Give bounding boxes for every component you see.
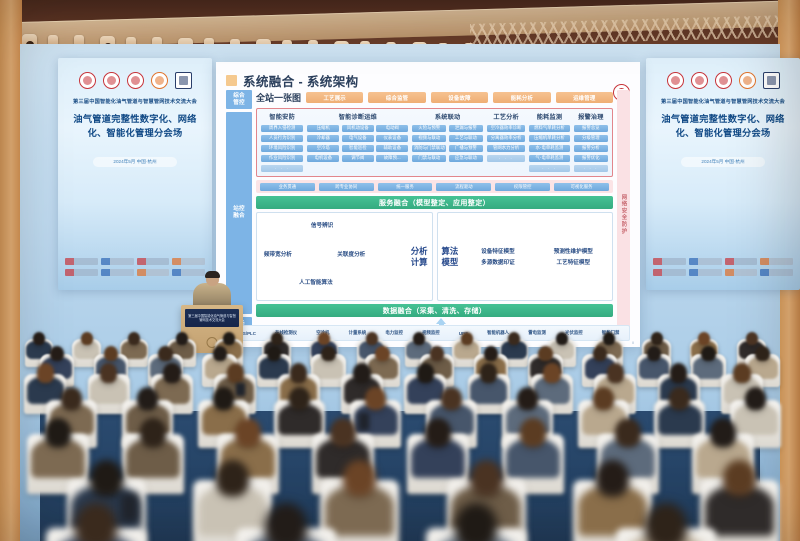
scenario-tab-row: 全站一张图 工艺展示综合监管设备故障能耗分析运维管理 <box>256 90 613 105</box>
attendee-head <box>216 460 249 496</box>
app-more-indicator[interactable]: · · · <box>487 155 525 163</box>
banner-logo-row <box>58 72 212 89</box>
attendee-head <box>615 418 641 447</box>
attendee-head <box>50 346 64 362</box>
sponsor-logo <box>137 269 170 276</box>
banner-date: 2024年5月 中国·杭州 <box>681 157 765 167</box>
attendee-head <box>755 346 769 362</box>
app-column-5: 能耗监测燃料气单耗分析压缩机单耗分析水-电单耗监测气-电单耗监测· · · <box>529 112 569 172</box>
app-item[interactable]: 人员行为识别 <box>261 135 303 143</box>
banner-subtitle: 第三届中国智能化油气管道与智慧管网技术交流大会 <box>66 98 204 106</box>
label-ai-algorithm: 人工智能算法 <box>299 278 333 286</box>
app-more-indicator[interactable]: · · · <box>574 165 608 173</box>
podium-sign: 第三届中国智能化油气管道与智慧管网技术交流大会 <box>185 309 239 327</box>
wall-left <box>0 0 22 541</box>
attendee-head <box>235 418 261 447</box>
attendee-head <box>607 363 625 382</box>
model-item: 设备特征模型 <box>463 247 532 255</box>
seal-logo-2-icon <box>103 72 120 89</box>
attendee-head <box>413 332 425 345</box>
service-capability-item[interactable]: 权限管控 <box>495 183 550 191</box>
attendee-head <box>61 387 82 410</box>
attendee-head <box>603 332 615 345</box>
attendee-head <box>227 363 245 382</box>
app-item[interactable]: 电气设备 <box>342 135 374 143</box>
service-capability-row: 业务贯通跨专业协同统一服务流程驱动权限管控可视化服务 <box>256 180 613 193</box>
sponsor-logo <box>101 269 134 276</box>
attendee-head <box>651 332 663 345</box>
analysis-compute-title: 分析 计算 <box>411 246 428 267</box>
app-item[interactable]: 气-电单耗监测 <box>529 155 569 163</box>
app-column-1: 智能安防周界入侵检测人员行为识别环境风险识别作业风险识别· · · <box>261 112 303 172</box>
attendee-head <box>318 332 330 345</box>
app-item[interactable]: 报警分析 <box>574 145 608 153</box>
attendee-head <box>508 332 520 345</box>
app-more-indicator[interactable]: · · · <box>261 165 303 173</box>
attendee-head <box>596 460 629 496</box>
sponsor-logo <box>725 258 758 265</box>
attendee-head <box>213 387 234 410</box>
analysis-compute-card: 信号辨识 频带宽分析 关联度分析 人工智能算法 分析 计算 <box>256 212 433 301</box>
banner-sponsor-logos <box>653 258 793 276</box>
sponsor-logo <box>137 258 170 265</box>
service-fusion-band: 服务融合（模型整定、应用整定） <box>256 196 613 209</box>
model-item: 工艺特征模型 <box>539 258 608 266</box>
banner-right: 第三届中国智能化油气管道与智慧管网技术交流大会 油气管道完整性数字化、网络化、智… <box>646 58 800 290</box>
application-layer-box: 智能安防周界入侵检测人员行为识别环境风险识别作业风险识别· · ·智能诊断运维压… <box>256 108 613 177</box>
attendee-head <box>45 418 71 447</box>
banner-left: 第三届中国智能化油气管道与智慧管网技术交流大会 油气管道完整性数字化、网络化、智… <box>58 58 212 290</box>
app-column-2: 智能诊断运维压缩机风机动设备电动阀冷却器电气设备仪表设备空冷塔智能巡检辅助设备电… <box>307 112 408 162</box>
attendee-head <box>265 503 307 541</box>
app-item[interactable]: 泄漏与报警 <box>449 125 483 133</box>
app-item[interactable]: 辅助设备 <box>376 145 408 153</box>
network-security-label: 网络安全防护 <box>620 194 628 235</box>
attendee-head <box>480 363 498 382</box>
app-column-header: 系统联动 <box>412 112 483 121</box>
slide-title-row: 系统融合 - 系统架构 <box>226 71 630 90</box>
network-security-strip: 网络安全防护 <box>617 90 630 339</box>
attendee-head <box>430 346 444 362</box>
projected-slide: 系统融合 - 系统架构 综合管控 站控融合 现场设备 全站一张图 工艺展示综合监… <box>216 62 640 347</box>
attendee-head <box>140 418 166 447</box>
sponsor-logo <box>653 269 686 276</box>
attendee-head <box>593 387 614 410</box>
app-item[interactable]: 周界入侵检测 <box>261 125 303 133</box>
app-item[interactable]: 视频与联动 <box>412 135 446 143</box>
attendee-head <box>723 460 756 496</box>
app-item[interactable]: 电动阀 <box>376 125 408 133</box>
banner-title: 油气管道完整性数字化、网络化、智能化管理分会场 <box>64 113 206 141</box>
app-item[interactable]: 故障预... <box>376 155 408 163</box>
seal-logo-5-icon <box>763 72 780 89</box>
scenario-tab-2[interactable]: 综合监管 <box>368 92 425 103</box>
app-item[interactable]: 仪表设备 <box>376 135 408 143</box>
conference-hall-photo: 第三届中国智能化油气管道与智慧管网技术交流大会 油气管道完整性数字化、网络化、智… <box>0 0 800 541</box>
label-signal-identification: 信号辨识 <box>311 221 333 229</box>
attendee-head <box>710 418 736 447</box>
model-item: 预测性维护模型 <box>539 247 608 255</box>
attendee-head <box>538 346 552 362</box>
overview-label: 全站一张图 <box>256 91 301 104</box>
service-capability-item[interactable]: 统一服务 <box>378 183 433 191</box>
scenario-tab-5[interactable]: 运维管理 <box>556 92 613 103</box>
attendee-head <box>543 363 561 382</box>
rail-item-station-fusion: 站控融合 <box>226 112 252 314</box>
service-capability-item[interactable]: 业务贯通 <box>260 183 315 191</box>
model-item: 多源数据印证 <box>463 258 532 266</box>
title-bullet-icon <box>226 75 237 86</box>
app-item[interactable]: 工艺与联动 <box>449 135 483 143</box>
app-item[interactable]: 压缩机单耗分析 <box>529 135 569 143</box>
attendee-head <box>321 346 335 362</box>
banner-logo-row <box>646 72 800 89</box>
seal-logo-4-icon <box>151 72 168 89</box>
sponsor-logo <box>760 258 793 265</box>
attendee-head <box>81 332 93 345</box>
attendee-head <box>330 418 356 447</box>
model-list: 设备特征模型 预测性维护模型 多源数据印证 工艺特征模型 <box>463 247 608 266</box>
sponsor-logo <box>653 258 686 265</box>
service-capability-item[interactable]: 流程驱动 <box>436 183 491 191</box>
attendee-head <box>100 363 118 382</box>
app-item[interactable]: 分离器效率分析 <box>487 135 525 143</box>
app-item[interactable]: 冷却器 <box>307 135 339 143</box>
data-fusion-band: 数据融合（采集、清洗、存储） <box>256 304 613 317</box>
app-item[interactable]: 广播与预警 <box>449 145 483 153</box>
app-item[interactable]: 调节阀 <box>342 155 374 163</box>
app-column-header: 工艺分析 <box>487 112 525 121</box>
algorithm-model-title: 算法 模型 <box>442 246 459 267</box>
banner-subtitle: 第三届中国智能化油气管道与智慧管网技术交流大会 <box>654 98 792 106</box>
sponsor-logo <box>172 269 205 276</box>
attendee-head <box>158 346 172 362</box>
app-column-4: 工艺分析空冷器效率诊断分离器效率分析管网水力分析· · · <box>487 112 525 162</box>
app-item[interactable]: 空冷塔 <box>307 145 339 153</box>
app-item[interactable]: 环境风险识别 <box>261 145 303 153</box>
attendee-head <box>271 332 283 345</box>
banner-sponsor-logos <box>65 258 205 276</box>
attendee-head <box>520 418 546 447</box>
app-item[interactable]: 报警优化 <box>574 155 608 163</box>
attendee-head <box>33 332 45 345</box>
app-item[interactable]: 管网水力分析 <box>487 145 525 153</box>
attendee-head <box>289 387 310 410</box>
app-item[interactable]: 火险与预警 <box>412 125 446 133</box>
app-item[interactable]: 智能巡检 <box>342 145 374 153</box>
app-column-header: 能耗监测 <box>529 112 569 121</box>
attendee-head <box>441 387 462 410</box>
attendee-head <box>223 332 235 345</box>
app-item[interactable]: 风机动设备 <box>342 125 374 133</box>
app-item[interactable]: 水-电单耗监测 <box>529 145 569 153</box>
attendee-head <box>104 346 118 362</box>
attendee-phone <box>359 413 369 430</box>
seal-logo-3-icon <box>127 72 144 89</box>
scenario-tab-3[interactable]: 设备故障 <box>431 92 488 103</box>
attendee-head <box>746 332 758 345</box>
attendee-head <box>163 363 181 382</box>
sponsor-logo <box>101 258 134 265</box>
attendee-head <box>470 460 503 496</box>
attendee-head <box>701 346 715 362</box>
seal-logo-5-icon <box>175 72 192 89</box>
attendee-head <box>90 460 123 496</box>
attendee-head <box>461 332 473 345</box>
analytics-layer: 信号辨识 频带宽分析 关联度分析 人工智能算法 分析 计算 <box>256 212 613 301</box>
sponsor-logo <box>65 269 98 276</box>
attendee-head <box>484 346 498 362</box>
sponsor-logo <box>65 258 98 265</box>
scenario-tab-1[interactable]: 工艺展示 <box>306 92 363 103</box>
attendee-head <box>698 332 710 345</box>
architecture-diagram: 综合管控 站控融合 现场设备 全站一张图 工艺展示综合监管设备故障能耗分析运维管… <box>226 90 630 339</box>
banner-date: 2024年5月 中国·杭州 <box>93 157 177 167</box>
attendee-head <box>670 363 688 382</box>
app-item[interactable]: 作业风险识别 <box>261 155 303 163</box>
attendee-phone <box>121 494 138 521</box>
app-item[interactable]: 电机设备 <box>307 155 339 163</box>
attendee-head <box>137 387 158 410</box>
app-item[interactable]: 门禁与联动 <box>412 155 446 163</box>
attendee-head <box>37 363 55 382</box>
sponsor-logo <box>689 269 722 276</box>
attendee-head <box>417 363 435 382</box>
attendee-head <box>176 332 188 345</box>
analysis-label-cluster: 信号辨识 频带宽分析 关联度分析 人工智能算法 <box>261 216 408 297</box>
service-capability-item[interactable]: 可视化服务 <box>554 183 609 191</box>
app-more-indicator[interactable]: · · · <box>529 165 569 173</box>
attendee-head <box>425 418 451 447</box>
attendee-head <box>267 346 281 362</box>
attendee-head <box>353 363 371 382</box>
attendee-head <box>593 346 607 362</box>
seal-logo-4-icon <box>739 72 756 89</box>
upward-arrow-icon <box>436 318 446 324</box>
attendee-head <box>213 346 227 362</box>
algorithm-model-card: 算法 模型 设备特征模型 预测性维护模型 多源数据印证 工艺特征模型 <box>437 212 614 301</box>
attendee-head <box>669 387 690 410</box>
sponsor-logo <box>172 258 205 265</box>
label-bandwidth-analysis: 频带宽分析 <box>264 250 292 258</box>
sponsor-logo <box>689 258 722 265</box>
service-capability-item[interactable]: 跨专业协同 <box>319 183 374 191</box>
app-item[interactable]: 燃料气单耗分析 <box>529 125 569 133</box>
sponsor-logo <box>725 269 758 276</box>
app-column-3: 系统联动火险与预警泄漏与报警视频与联动工艺与联动消防与门禁联动广播与预警门禁与联… <box>412 112 483 162</box>
rail-item-integrated-control: 综合管控 <box>226 90 252 109</box>
seal-logo-3-icon <box>715 72 732 89</box>
attendee-head <box>517 387 538 410</box>
seal-logo-2-icon <box>691 72 708 89</box>
banner-title: 油气管道完整性数字化、网络化、智能化管理分会场 <box>652 113 794 141</box>
attendee-head <box>375 346 389 362</box>
attendee-head <box>290 363 308 382</box>
speaker-hair <box>205 271 220 278</box>
podium-sign-text: 第三届中国智能化油气管道与智慧管网技术交流大会 <box>187 314 237 323</box>
seal-logo-1-icon <box>667 72 684 89</box>
attendee-head <box>343 460 376 496</box>
app-column-header: 报警治理 <box>574 112 608 121</box>
app-column-header: 智能安防 <box>261 112 303 121</box>
app-column-6: 报警治理报警总览分级管理报警分析报警优化· · · <box>574 112 608 172</box>
label-correlation-analysis: 关联度分析 <box>337 250 365 258</box>
app-item[interactable]: 应急与联动 <box>449 155 483 163</box>
app-item[interactable]: 压缩机 <box>307 125 339 133</box>
attendee-head <box>645 503 687 541</box>
attendee-phone <box>236 383 244 397</box>
attendee-head <box>366 332 378 345</box>
attendee-head <box>647 346 661 362</box>
sponsor-logo <box>760 269 793 276</box>
seal-logo-1-icon <box>79 72 96 89</box>
app-column-header: 智能诊断运维 <box>307 112 408 121</box>
audience <box>20 331 780 541</box>
app-item[interactable]: 消防与门禁联动 <box>412 145 446 153</box>
attendee-head <box>365 387 386 410</box>
attendee-head <box>556 332 568 345</box>
app-item[interactable]: 分级管理 <box>574 135 608 143</box>
app-item[interactable]: 空冷器效率诊断 <box>487 125 525 133</box>
attendee-head <box>128 332 140 345</box>
app-item[interactable]: 报警总览 <box>574 125 608 133</box>
attendee-head <box>745 387 766 410</box>
attendee-head <box>733 363 751 382</box>
slide-title: 系统融合 - 系统架构 <box>243 71 359 90</box>
scenario-tab-4[interactable]: 能耗分析 <box>493 92 550 103</box>
